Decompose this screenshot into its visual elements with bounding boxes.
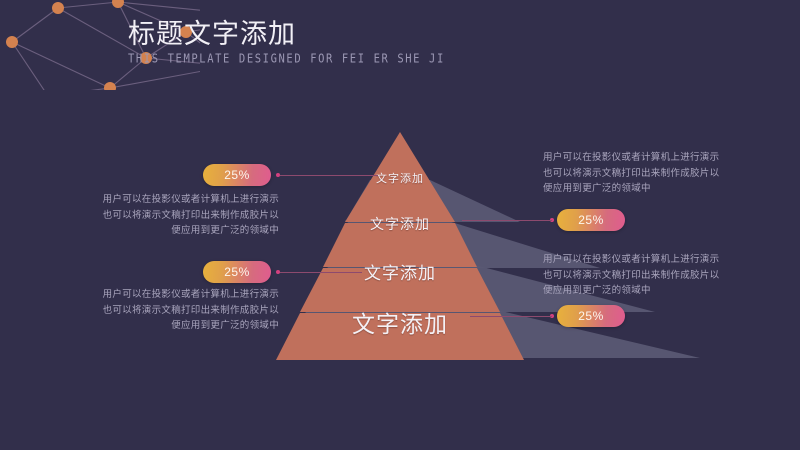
percent-badge-bottom-left[interactable]: 25% bbox=[203, 261, 271, 283]
connector-line-bottom-right bbox=[470, 316, 552, 317]
slide-canvas: 标题文字添加 THIS TEMPLATE DESIGNED FOR FEI ER… bbox=[0, 0, 800, 450]
slide-header: 标题文字添加 THIS TEMPLATE DESIGNED FOR FEI ER… bbox=[128, 18, 468, 65]
percent-badge-bottom-right[interactable]: 25% bbox=[557, 305, 625, 327]
callout-text-bottom-right: 用户可以在投影仪或者计算机上进行演示也可以将演示文稿打印出来制作成胶片以便应用到… bbox=[543, 252, 729, 299]
pyramid-tier-label-1: 文字添加 bbox=[350, 170, 450, 186]
connector-line-top-left bbox=[280, 175, 378, 176]
page-title: 标题文字添加 bbox=[128, 18, 468, 50]
percent-badge-top-left[interactable]: 25% bbox=[203, 164, 271, 186]
page-subtitle: THIS TEMPLATE DESIGNED FOR FEI ER SHE JI bbox=[128, 51, 468, 67]
percent-badge-top-right[interactable]: 25% bbox=[557, 209, 625, 231]
callout-text-top-left: 用户可以在投影仪或者计算机上进行演示也可以将演示文稿打印出来制作成胶片以便应用到… bbox=[93, 192, 279, 239]
connector-line-top-right bbox=[462, 220, 552, 221]
callout-text-top-right: 用户可以在投影仪或者计算机上进行演示也可以将演示文稿打印出来制作成胶片以便应用到… bbox=[543, 150, 729, 197]
connector-line-bottom-left bbox=[280, 272, 362, 273]
callout-text-bottom-left: 用户可以在投影仪或者计算机上进行演示也可以将演示文稿打印出来制作成胶片以便应用到… bbox=[93, 287, 279, 334]
pyramid-tier-label-4: 文字添加 bbox=[315, 305, 485, 339]
pyramid-tier-label-2: 文字添加 bbox=[340, 214, 460, 234]
